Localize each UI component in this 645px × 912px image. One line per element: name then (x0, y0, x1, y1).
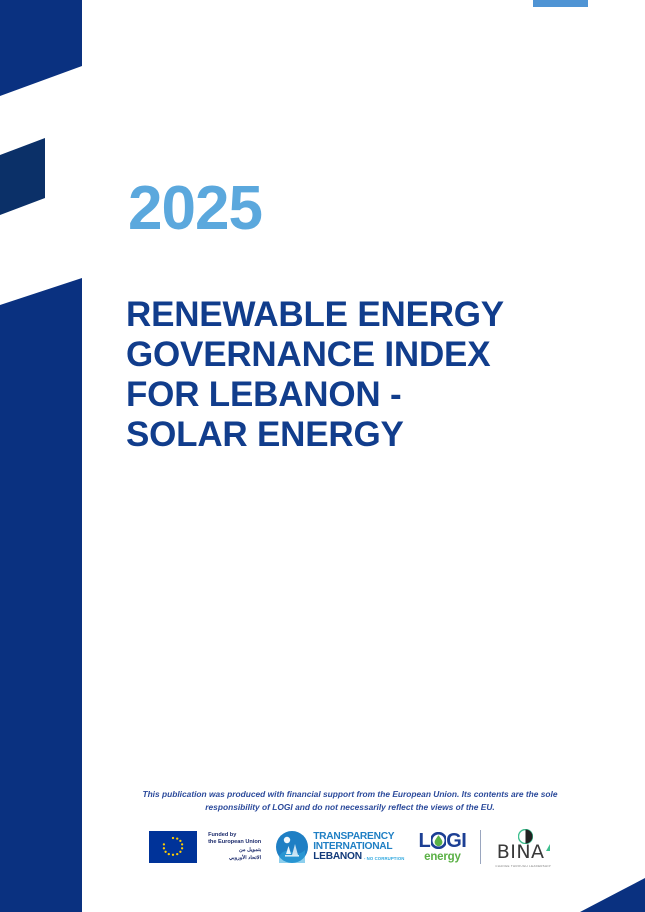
partner-logo-strip: Funded by the European Union بتمويل من ا… (128, 822, 572, 872)
ti-globe-icon (275, 830, 309, 864)
bina-sphere-icon (518, 829, 533, 844)
cover-year: 2025 (128, 178, 262, 240)
eu-caption-arabic: بتمويل من الاتحاد الأوروبي (203, 847, 261, 862)
transparency-international-logo: TRANSPARENCY INTERNATIONAL LEBANON - NO … (275, 824, 404, 870)
logi-energy-logo: L GI energy (418, 824, 466, 870)
bina-tagline: CHANGE THROUGH LEADERSHIP (495, 864, 551, 868)
bina-wordmark: BINA (497, 843, 545, 862)
page-title: RENEWABLE ENERGY GOVERNANCE INDEX FOR LE… (126, 295, 596, 455)
bina-logo: BINA CHANGE THROUGH LEADERSHIP (495, 823, 551, 871)
logi-subtitle: energy (424, 852, 461, 864)
eu-funding-logo: Funded by the European Union بتمويل من ا… (149, 824, 261, 870)
logi-droplet-icon (431, 832, 446, 849)
eu-flag-icon (149, 831, 197, 863)
bina-accent-icon (546, 844, 550, 851)
ti-line-lebanon: LEBANON (313, 852, 362, 862)
logi-letters-gi: GI (446, 831, 466, 851)
ti-tagline: - NO CORRUPTION (364, 857, 405, 862)
logo-divider (480, 830, 481, 864)
logi-letter-l: L (418, 831, 430, 851)
funding-disclaimer: This publication was produced with finan… (128, 788, 572, 814)
eu-caption-english: Funded by the European Union (203, 832, 261, 848)
cover-content: 2025 RENEWABLE ENERGY GOVERNANCE INDEX F… (0, 0, 645, 912)
